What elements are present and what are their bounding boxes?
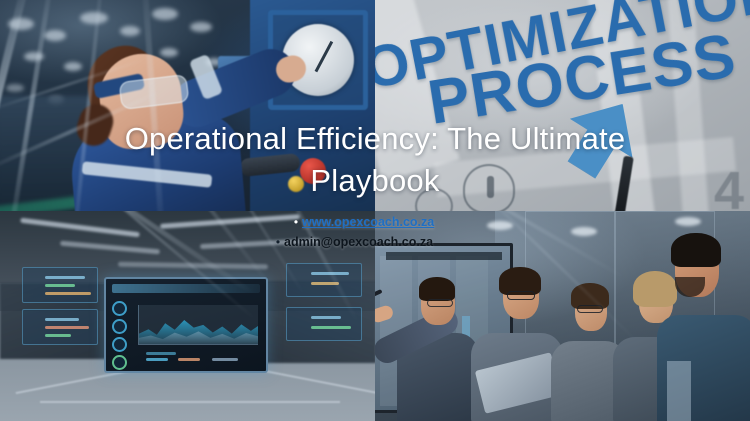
contact-website-item[interactable]: • www.opexcoach.co.za: [250, 212, 550, 232]
dashboard-area-chart: [138, 305, 258, 345]
hud-panel-right-2: [286, 307, 362, 341]
dashboard-nav-icon-3: [112, 337, 127, 352]
contact-email-item: • admin@opexcoach.co.za: [250, 232, 550, 252]
email-address: admin@opexcoach.co.za: [284, 232, 433, 252]
sketch-number: 4: [714, 160, 744, 212]
ceiling-light-3: [675, 217, 701, 226]
contact-bullet-list: • www.opexcoach.co.za • admin@opexcoach.…: [250, 212, 550, 252]
eyeglasses-icon: [427, 299, 453, 307]
dashboard-title-bar: [112, 284, 260, 293]
slide-title: Operational Efficiency: The Ultimate Pla…: [60, 118, 690, 202]
bullet-marker-icon: •: [272, 232, 284, 252]
bullet-marker-icon: •: [290, 212, 302, 232]
hologram-dashboard-screen: [104, 277, 268, 373]
hud-panel-right-1: [286, 263, 362, 297]
hud-panel-left-1: [22, 267, 98, 303]
slide-title-line-1: Operational Efficiency: The Ultimate: [125, 121, 626, 156]
dashboard-nav-icon-4: [112, 355, 127, 370]
shirt-panel: [667, 361, 691, 421]
eyeglasses-icon: [507, 291, 535, 300]
ceiling-light-2: [571, 227, 597, 236]
presentation-slide: OPTIMIZATION PROCESS 4: [0, 0, 750, 421]
eyeglasses-icon: [577, 305, 603, 313]
dashboard-nav-icon-1: [112, 301, 127, 316]
hud-panel-left-2: [22, 309, 98, 345]
website-link[interactable]: www.opexcoach.co.za: [302, 212, 434, 232]
slide-title-line-2: Playbook: [310, 163, 439, 198]
dashboard-nav-icon-2: [112, 319, 127, 334]
